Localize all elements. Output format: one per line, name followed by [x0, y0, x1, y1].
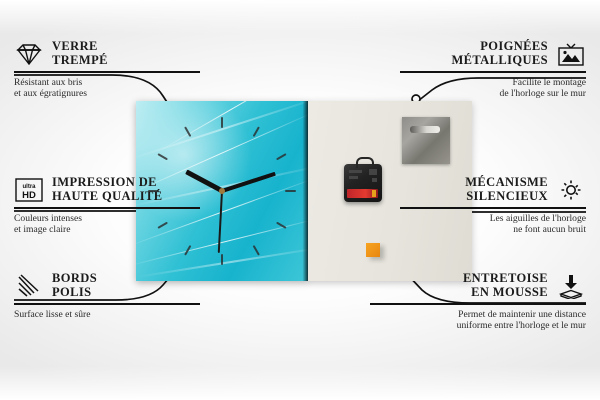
callout-rule [14, 207, 200, 209]
aa-battery [347, 189, 378, 198]
foam-spacer-icon [556, 273, 586, 299]
callout-sub-line2: ne font aucun bruit [513, 224, 586, 235]
callout-mecanisme-silencieux: MÉCANISME SILENCIEUX Les aiguilles de l'… [400, 176, 586, 235]
callout-title-line2: TREMPÉ [52, 53, 108, 67]
callout-rule [370, 303, 586, 305]
gear-icon [556, 177, 586, 203]
callout-entretoise-en-mousse: ENTRETOISE EN MOUSSE Permet de maintenir… [370, 272, 586, 331]
battery-positive-tip [372, 190, 376, 197]
clock-center-cap [219, 188, 225, 194]
callout-title-line2: MÉTALLIQUES [451, 53, 548, 67]
hanger-keyhole-slot [410, 126, 440, 133]
callout-title-line2: HAUTE QUALITÉ [52, 189, 162, 203]
callout-title-line2: EN MOUSSE [471, 285, 548, 299]
callout-title-line2: SILENCIEUX [466, 189, 548, 203]
callout-bords-polis: BORDS POLIS Surface lisse et sûre [14, 272, 200, 320]
ultra-hd-icon: ultra HD [14, 177, 44, 203]
callout-title-line2: POLIS [52, 285, 92, 299]
clock-tick [222, 190, 296, 192]
polished-edges-icon [14, 273, 44, 299]
callout-sub-line1: Résistant aux bris [14, 77, 82, 88]
infographic-canvas: VERRE TREMPÉ Résistant aux bris et aux é… [0, 0, 600, 400]
callout-title-line1: VERRE [52, 39, 98, 53]
picture-hanger-icon [556, 41, 586, 67]
callout-title-line1: MÉCANISME [465, 175, 548, 189]
callout-rule [400, 71, 586, 73]
clock-tick [221, 117, 223, 191]
callout-rule [400, 207, 586, 209]
diamond-icon [14, 41, 44, 67]
callout-title-line1: POIGNÉES [480, 39, 548, 53]
callout-rule [14, 303, 200, 305]
callout-sub-line2: et image claire [14, 224, 70, 235]
callout-poignees-metalliques: POIGNÉES MÉTALLIQUES Facilite le montage… [400, 40, 586, 99]
callout-title-line1: ENTRETOISE [463, 271, 548, 285]
callout-title-line1: IMPRESSION DE [52, 175, 157, 189]
bottom-vignette [0, 366, 600, 400]
callout-sub-line1: Permet de maintenir une distance [458, 309, 586, 320]
svg-text:HD: HD [22, 190, 36, 201]
callout-sub-line1: Facilite le montage [512, 77, 586, 88]
metal-hanger-plate [402, 117, 450, 164]
callout-title-line1: BORDS [52, 271, 97, 285]
callout-sub-line1: Surface lisse et sûre [14, 309, 90, 320]
foam-spacer [366, 243, 380, 257]
callout-sub-line2: de l'horloge sur le mur [500, 88, 586, 99]
callout-sub-line2: et aux égratignures [14, 88, 87, 99]
clock-mechanism [344, 164, 382, 202]
top-vignette [0, 0, 600, 34]
callout-verre-trempe: VERRE TREMPÉ Résistant aux bris et aux é… [14, 40, 200, 99]
callout-rule [14, 71, 200, 73]
callout-impression-haute-qualite: ultra HD IMPRESSION DE HAUTE QUALITÉ Cou… [14, 176, 200, 235]
callout-sub-line1: Les aiguilles de l'horloge [490, 213, 586, 224]
mechanism-hanging-loop [356, 157, 374, 168]
callout-sub-line1: Couleurs intenses [14, 213, 82, 224]
callout-sub-line2: uniforme entre l'horloge et le mur [457, 320, 586, 331]
